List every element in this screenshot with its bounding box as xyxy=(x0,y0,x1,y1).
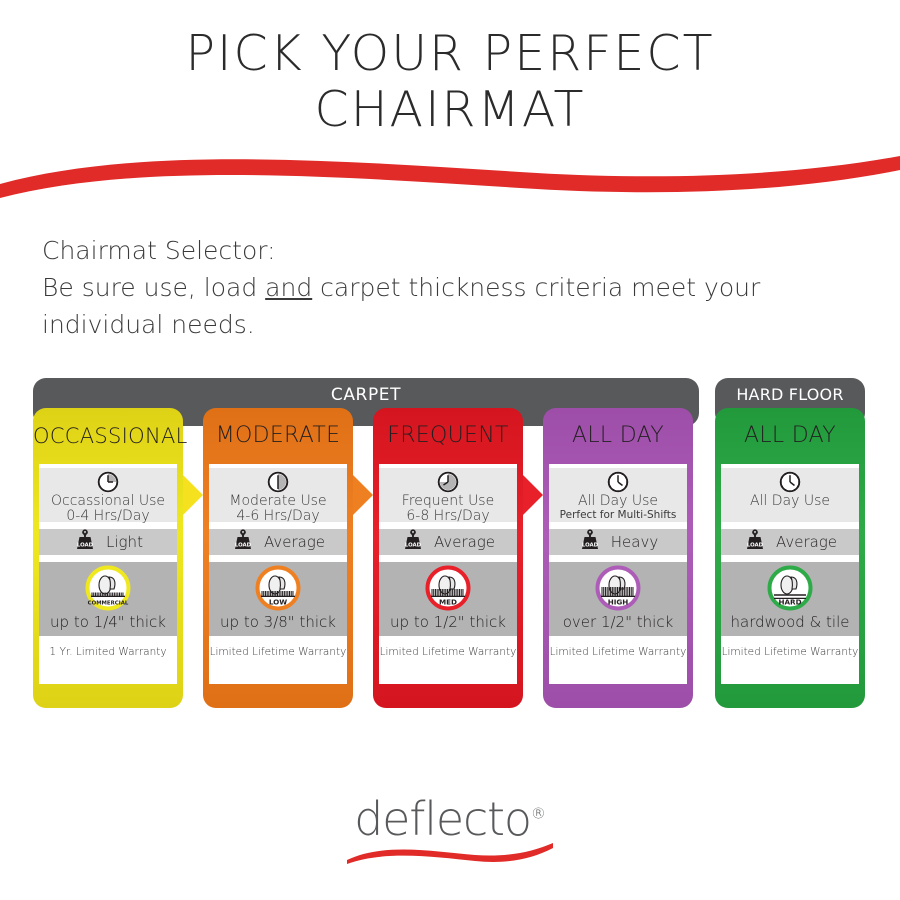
column-occassional-0[interactable]: OCCASSIONAL Occassional Use0-4 Hrs/Day L… xyxy=(33,408,183,708)
row-thickness-2: MED up to 1/2" thick xyxy=(379,562,517,636)
row-load-3: LOAD Heavy xyxy=(549,529,687,555)
column-body-0: Occassional Use0-4 Hrs/Day LOAD Light CO… xyxy=(39,464,177,684)
clock-three-quarter-icon xyxy=(379,471,517,493)
intro-paragraph: Chairmat Selector: Be sure use, load and… xyxy=(42,232,852,343)
thickness-label-3: over 1/2" thick xyxy=(549,613,687,631)
hard-floor-icon: HARD xyxy=(721,562,859,613)
red-swoosh-divider xyxy=(0,140,900,200)
clock-half-icon xyxy=(209,471,347,493)
row-use-1: Moderate Use4-6 Hrs/Day xyxy=(209,468,347,522)
load-weight-icon: LOAD xyxy=(73,529,97,556)
clock-full-icon xyxy=(549,471,687,493)
load-label-3: Heavy xyxy=(611,533,658,551)
thickness-label-2: up to 1/2" thick xyxy=(379,613,517,631)
arrow-next-1 xyxy=(353,475,375,515)
use-sub-3: Perfect for Multi-Shifts xyxy=(549,509,687,521)
column-head-2: FREQUENT xyxy=(373,408,523,464)
svg-text:LOAD: LOAD xyxy=(747,542,764,548)
column-body-4: All Day Use LOAD Average HARD hardwood &… xyxy=(721,464,859,684)
use-main-3: All Day Use xyxy=(549,494,687,509)
column-head-1: MODERATE xyxy=(203,408,353,464)
carpet-commercial-icon: COMMERCIAL xyxy=(39,562,177,613)
column-head-4: ALL DAY xyxy=(715,408,865,464)
chairmat-selector-table: CARPET HARD FLOOR OCCASSIONAL Occassiona… xyxy=(33,378,865,708)
load-weight-icon: LOAD xyxy=(743,529,767,556)
load-weight-icon: LOAD xyxy=(578,529,602,556)
row-use-4: All Day Use xyxy=(721,468,859,522)
title-line-1: PICK YOUR PERFECT xyxy=(0,26,900,82)
column-body-3: All Day UsePerfect for Multi-Shifts LOAD… xyxy=(549,464,687,684)
load-label-2: Average xyxy=(434,533,495,551)
page-title: PICK YOUR PERFECT CHAIRMAT xyxy=(0,26,900,138)
svg-text:HIGH: HIGH xyxy=(608,598,629,607)
load-weight-icon: LOAD xyxy=(231,529,255,556)
carpet-low-icon: LOW xyxy=(209,562,347,613)
svg-text:LOAD: LOAD xyxy=(235,542,252,548)
registered-mark: ® xyxy=(531,805,546,823)
column-body-1: Moderate Use4-6 Hrs/Day LOAD Average LOW… xyxy=(209,464,347,684)
use-main-0: Occassional Use0-4 Hrs/Day xyxy=(39,494,177,524)
clock-full-icon xyxy=(721,471,859,493)
intro-line-2-pre: Be sure use, load xyxy=(42,273,265,302)
brand-logo: deflecto® xyxy=(0,792,900,864)
row-load-2: LOAD Average xyxy=(379,529,517,555)
title-line-2: CHAIRMAT xyxy=(0,82,900,138)
row-use-2: Frequent Use6-8 Hrs/Day xyxy=(379,468,517,522)
intro-line-3: individual needs. xyxy=(42,306,852,343)
row-load-1: LOAD Average xyxy=(209,529,347,555)
brand-wordmark: deflecto® xyxy=(354,792,546,846)
group-hard-floor-label: HARD FLOOR xyxy=(715,378,865,412)
load-label-4: Average xyxy=(776,533,837,551)
intro-line-2-post: carpet thickness criteria meet your xyxy=(312,273,760,302)
clock-quarter-icon xyxy=(39,471,177,493)
row-thickness-3: HIGH over 1/2" thick xyxy=(549,562,687,636)
intro-line-2: Be sure use, load and carpet thickness c… xyxy=(42,269,852,306)
row-thickness-0: COMMERCIAL up to 1/4" thick xyxy=(39,562,177,636)
row-load-0: LOAD Light xyxy=(39,529,177,555)
warranty-1: Limited Lifetime Warranty xyxy=(209,642,347,662)
row-thickness-1: LOW up to 3/8" thick xyxy=(209,562,347,636)
row-load-4: LOAD Average xyxy=(721,529,859,555)
row-use-3: All Day UsePerfect for Multi-Shifts xyxy=(549,468,687,522)
load-label-1: Average xyxy=(264,533,325,551)
svg-text:LOAD: LOAD xyxy=(405,542,422,548)
column-body-2: Frequent Use6-8 Hrs/Day LOAD Average MED… xyxy=(379,464,517,684)
thickness-label-4: hardwood & tile xyxy=(721,613,859,631)
thickness-label-1: up to 3/8" thick xyxy=(209,613,347,631)
svg-text:LOW: LOW xyxy=(269,598,287,607)
warranty-2: Limited Lifetime Warranty xyxy=(379,642,517,662)
column-head-0: OCCASSIONAL xyxy=(33,408,183,464)
column-all-day-3[interactable]: ALL DAY All Day UsePerfect for Multi-Shi… xyxy=(543,408,693,708)
svg-text:LOAD: LOAD xyxy=(77,542,94,548)
group-carpet-label: CARPET xyxy=(33,378,699,412)
intro-emphasis-and: and xyxy=(265,273,312,302)
load-label-0: Light xyxy=(106,533,143,551)
row-use-0: Occassional Use0-4 Hrs/Day xyxy=(39,468,177,522)
svg-text:MED: MED xyxy=(439,598,457,607)
warranty-4: Limited Lifetime Warranty xyxy=(721,642,859,662)
column-head-3: ALL DAY xyxy=(543,408,693,464)
intro-line-1: Chairmat Selector: xyxy=(42,232,852,269)
svg-text:LOAD: LOAD xyxy=(582,542,599,548)
carpet-med-icon: MED xyxy=(379,562,517,613)
warranty-3: Limited Lifetime Warranty xyxy=(549,642,687,662)
svg-text:HARD: HARD xyxy=(778,598,801,607)
arrow-next-0 xyxy=(183,475,205,515)
load-weight-icon: LOAD xyxy=(401,529,425,556)
use-main-2: Frequent Use6-8 Hrs/Day xyxy=(379,494,517,524)
row-thickness-4: HARD hardwood & tile xyxy=(721,562,859,636)
column-moderate-1[interactable]: MODERATE Moderate Use4-6 Hrs/Day LOAD Av… xyxy=(203,408,353,708)
use-main-1: Moderate Use4-6 Hrs/Day xyxy=(209,494,347,524)
column-frequent-2[interactable]: FREQUENT Frequent Use6-8 Hrs/Day LOAD Av… xyxy=(373,408,523,708)
brand-name: deflecto xyxy=(354,792,531,846)
thickness-label-0: up to 1/4" thick xyxy=(39,613,177,631)
svg-text:COMMERCIAL: COMMERCIAL xyxy=(88,601,129,607)
column-all-day-4[interactable]: ALL DAY All Day Use LOAD Average HARD ha… xyxy=(715,408,865,708)
use-main-4: All Day Use xyxy=(721,494,859,509)
warranty-0: 1 Yr. Limited Warranty xyxy=(39,642,177,662)
carpet-high-icon: HIGH xyxy=(549,562,687,613)
arrow-next-2 xyxy=(523,475,545,515)
